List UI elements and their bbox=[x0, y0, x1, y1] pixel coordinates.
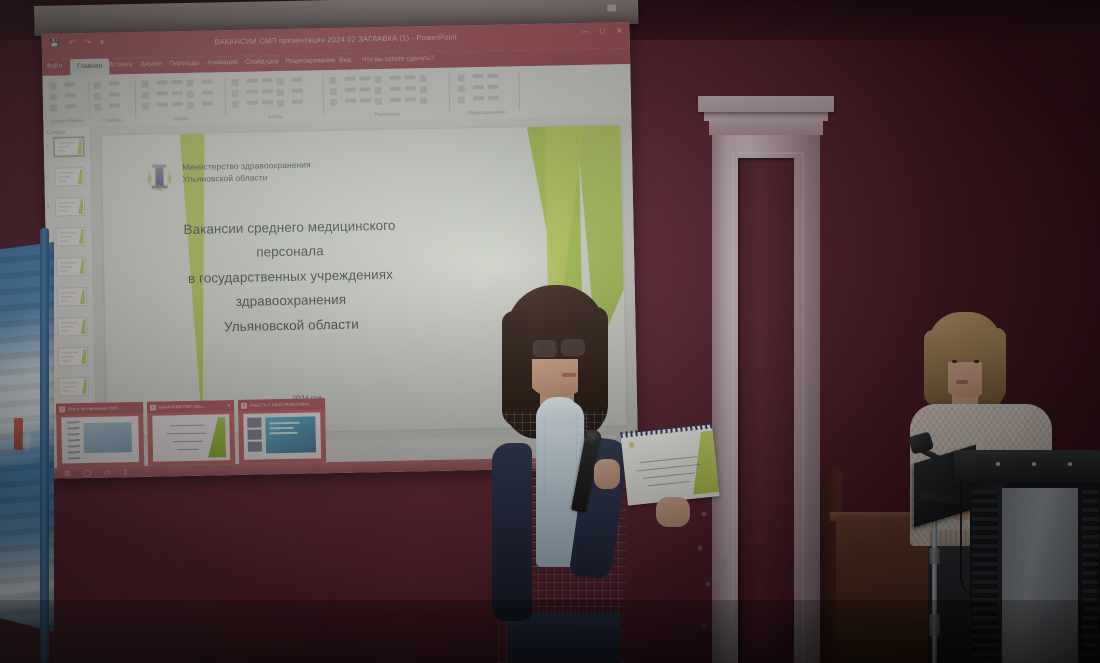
photo-vignette bbox=[0, 0, 1100, 663]
conference-hall-photo: 💾 ↶ ↷ ▾ ВАКАНСИИ СМП презентация 2024.02… bbox=[0, 0, 1100, 663]
